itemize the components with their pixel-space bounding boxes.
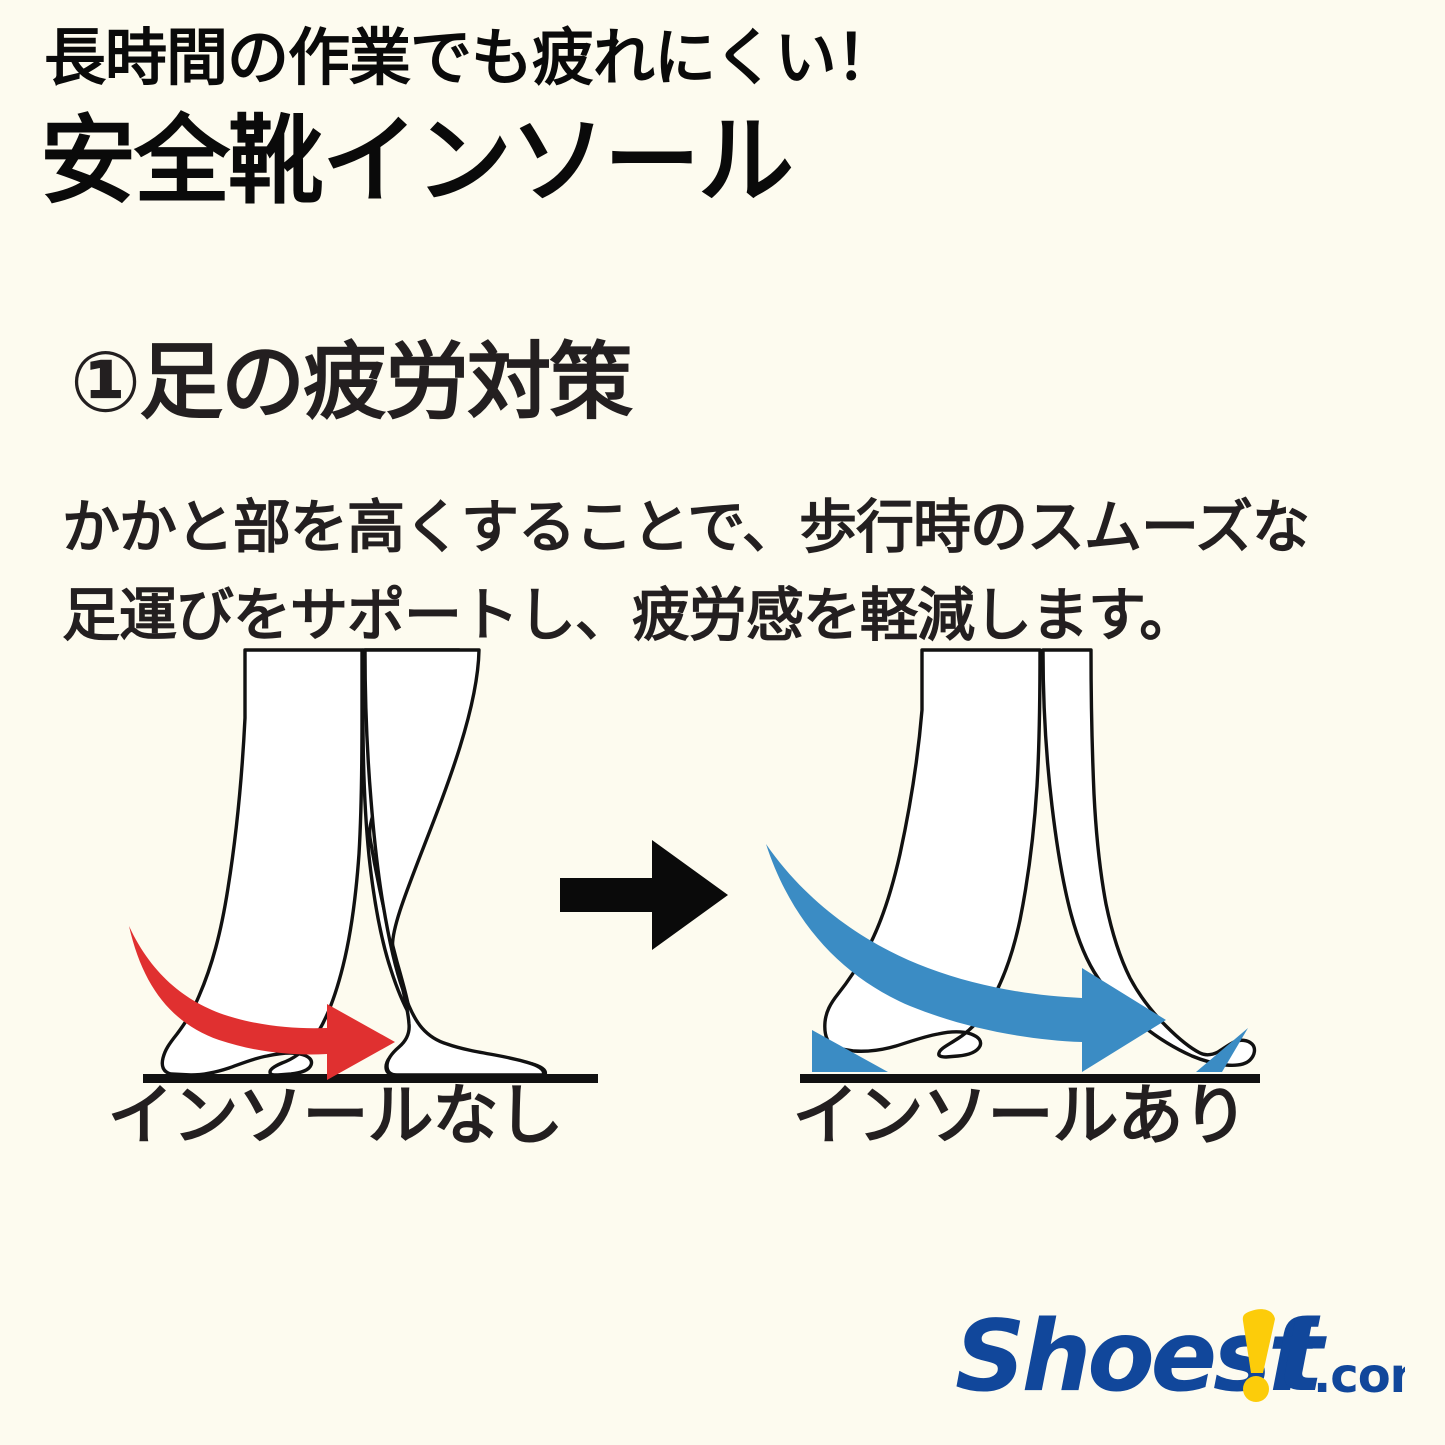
shoesfit-logo[interactable]: Shoesf t .com [955,1295,1405,1425]
kicker-text: 長時間の作業でも疲れにくい！ [44,26,897,91]
front-leg-outline [365,650,544,1075]
transition-arrow-icon [560,838,730,953]
body-copy: かかと部を高くすることで、歩行時のスムーズな 足運びをサポートし、疲労感を軽減し… [62,484,1392,660]
poster-canvas: 長時間の作業でも疲れにくい！ 安全靴インソール ①足の疲労対策 かかと部を高くす… [0,0,1445,1445]
caption-with-insole: インソールあり [775,1062,1265,1158]
page-title: 安全靴インソール [40,112,792,213]
caption-without-insole: インソールなし [100,1062,570,1158]
logo-domain: .com [1313,1348,1405,1404]
section-heading: ①足の疲労対策 [70,338,631,426]
body-copy-line-1: かかと部を高くすることで、歩行時のスムーズな [62,484,1392,572]
